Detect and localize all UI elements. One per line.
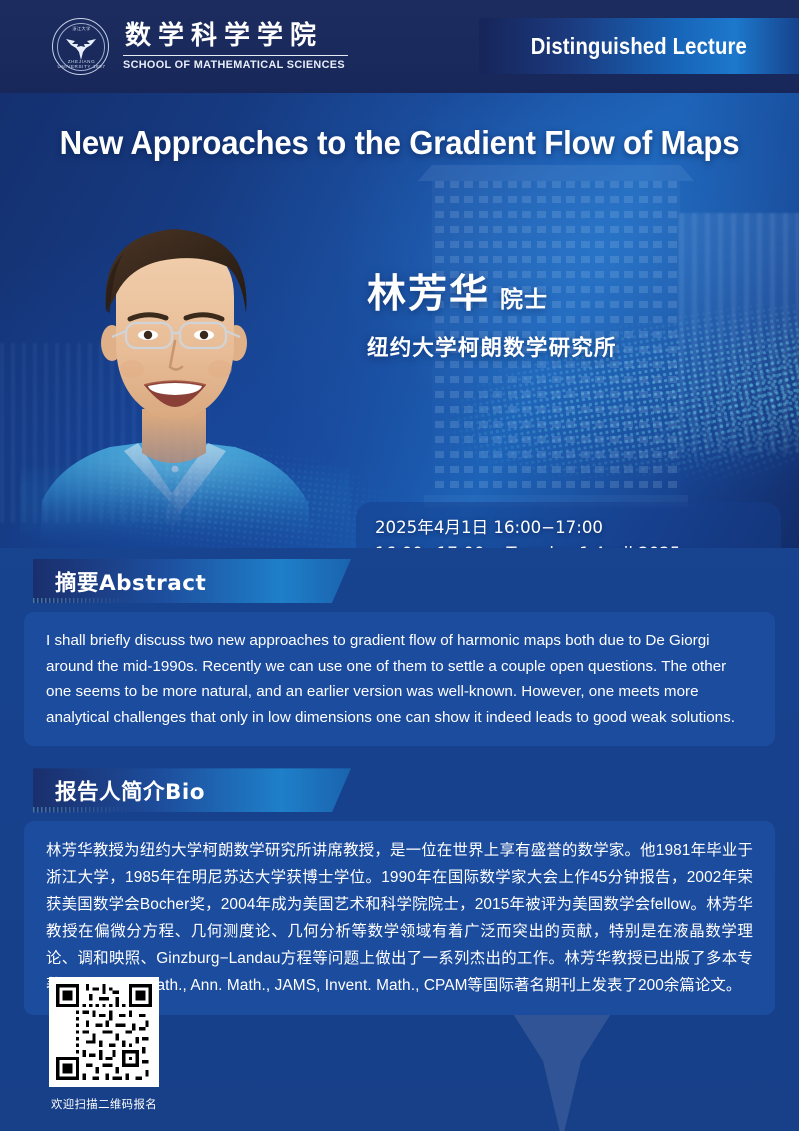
event-datetime-en: 16:00−17:00 ，Tuesday 1 April 2025 [375,541,781,548]
poster-body: 摘要Abstract I shall briefly discuss two n… [0,548,799,1131]
badge-label: Distinguished Lecture [531,33,747,60]
speaker-info: 林芳华院士 纽约大学柯朗数学研究所 [367,263,617,362]
bio-section-header: 报告人简介Bio [33,768,351,812]
abstract-heading: 摘要Abstract [33,566,206,597]
bio-body: 林芳华教授为纽约大学柯朗数学研究所讲席教授，是一位在世界上享有盛誉的数学家。他1… [46,837,753,999]
abstract-panel: I shall briefly discuss two new approach… [24,612,775,746]
school-divider [123,55,348,56]
bio-heading: 报告人简介Bio [33,775,205,806]
school-name-cn: 数学科学学院 [123,22,352,52]
speaker-honorific: 院士 [500,280,548,314]
qr-caption: 欢迎扫描二维码报名 [51,1096,157,1112]
lecture-title: New Approaches to the Gradient Flow of M… [28,125,771,163]
qr-code[interactable] [49,977,159,1087]
registration-qr-block: 欢迎扫描二维码报名 [49,977,159,1112]
hero-section: New Approaches to the Gradient Flow of M… [0,93,799,548]
distinguished-lecture-badge: Distinguished Lecture [479,18,799,74]
eagle-emblem-icon [64,32,98,62]
speaker-name: 林芳华 [367,263,490,319]
abstract-body: I shall briefly discuss two new approach… [46,628,753,730]
school-name-en: SCHOOL OF MATHEMATICAL SCIENCES [123,59,345,71]
event-datetime-cn: 2025年4月1日 16:00−17:00 [375,515,781,541]
poster-header: 浙江大学 ZHEJIANG UNIVERSITY 1897 数学科学学院 SCH… [0,0,799,93]
speaker-name-line: 林芳华院士 [367,263,617,319]
abstract-section-header: 摘要Abstract [33,559,351,603]
bio-header-decor [9,807,129,821]
lecture-poster: 浙江大学 ZHEJIANG UNIVERSITY 1897 数学科学学院 SCH… [0,0,799,1131]
speaker-affiliation: 纽约大学柯朗数学研究所 [367,331,617,362]
event-details-box: 2025年4月1日 16:00−17:00 16:00−17:00 ，Tuesd… [356,502,781,548]
building-roof [418,165,694,181]
speaker-portrait [20,201,350,548]
university-logo: 浙江大学 ZHEJIANG UNIVERSITY 1897 数学科学学院 SCH… [52,18,352,75]
abstract-header-decor [9,598,129,612]
zju-seal-icon: 浙江大学 ZHEJIANG UNIVERSITY 1897 [52,18,109,75]
school-name-block: 数学科学学院 SCHOOL OF MATHEMATICAL SCIENCES [123,22,352,71]
